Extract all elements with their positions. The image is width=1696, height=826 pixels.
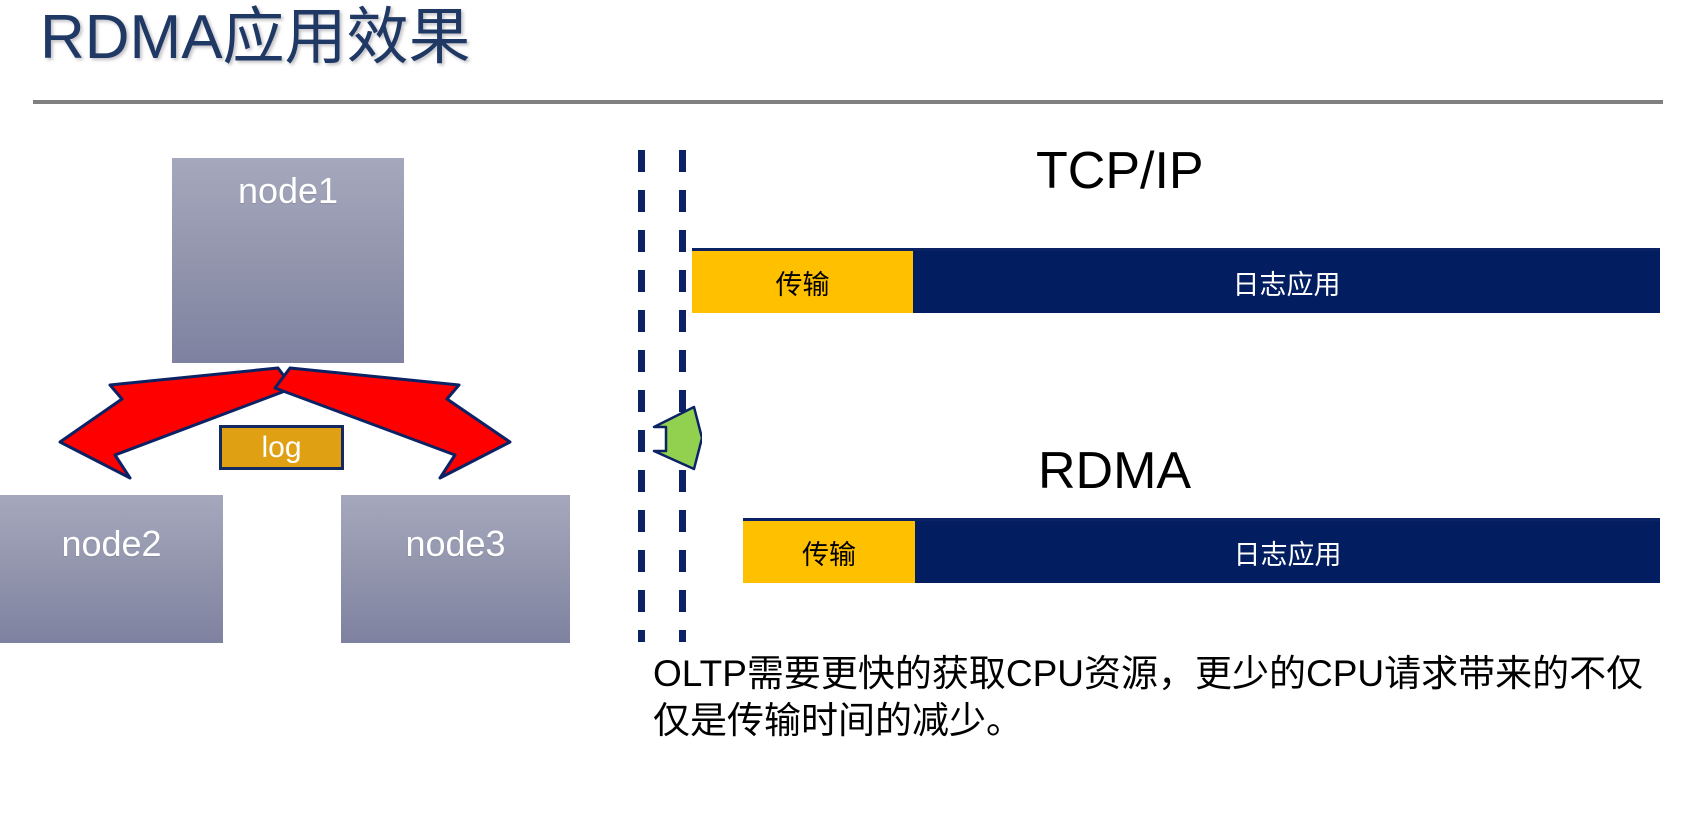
node-label: node3 (341, 495, 570, 565)
timeline-bar-rdma: 传输 日志应用 (743, 518, 1660, 583)
node-label: node2 (0, 495, 223, 565)
segment-log-apply: 日志应用 (913, 251, 1660, 313)
slide-canvas: RDMA应用效果 node1 node2 node3 log TCP/IP 传输… (0, 0, 1696, 826)
segment-transfer-label: 传输 (802, 533, 856, 572)
segment-log-apply: 日志应用 (915, 521, 1660, 583)
node-label: node1 (172, 158, 404, 212)
heading-rdma: RDMA (1038, 441, 1191, 501)
segment-transfer: 传输 (692, 251, 913, 313)
segment-log-apply-label: 日志应用 (1233, 263, 1341, 302)
heading-tcpip: TCP/IP (1036, 141, 1204, 201)
segment-log-apply-label: 日志应用 (1234, 533, 1342, 572)
dashed-guide-left (638, 150, 645, 642)
node-box-node3: node3 (341, 495, 570, 643)
green-improvement-arrow-icon (652, 405, 702, 471)
log-box: log (219, 425, 344, 470)
segment-transfer: 传输 (743, 521, 915, 583)
log-box-label: log (261, 431, 301, 464)
timeline-bar-tcpip: 传输 日志应用 (692, 248, 1660, 313)
title-divider (33, 100, 1663, 104)
node-box-node2: node2 (0, 495, 223, 643)
caption-text: OLTP需要更快的获取CPU资源，更少的CPU请求带来的不仅仅是传输时间的减少。 (653, 650, 1663, 745)
node-box-node1: node1 (172, 158, 404, 363)
replication-arrows (0, 0, 600, 826)
dashed-guide-right (679, 150, 686, 642)
segment-transfer-label: 传输 (776, 263, 830, 302)
page-title: RDMA应用效果 (40, 2, 471, 73)
